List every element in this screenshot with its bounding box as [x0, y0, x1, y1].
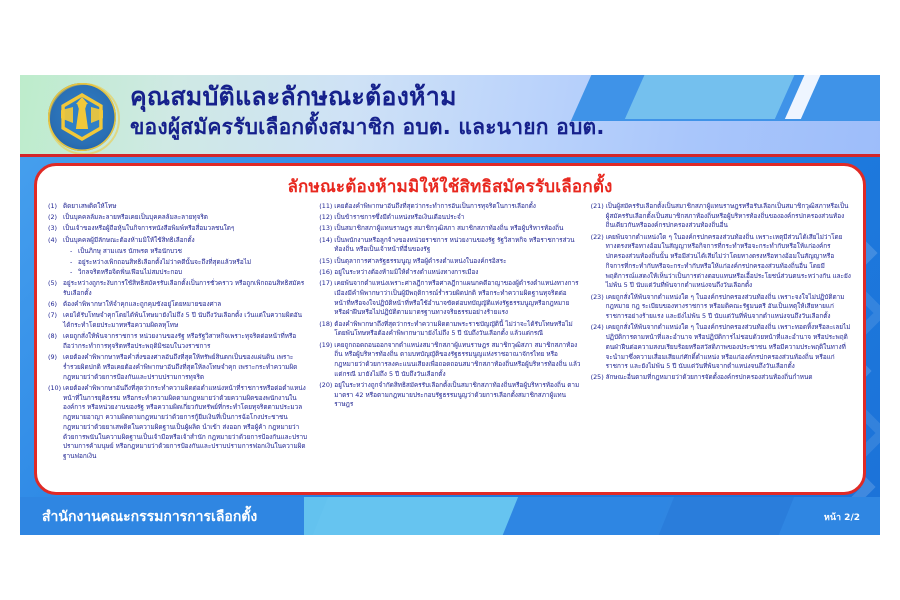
- list-sub-item-text: อยู่ระหว่างเพิกถอนสิทธิเลือกตั้งไม่ว่าคด…: [78, 258, 309, 268]
- list-item-number: (21): [591, 202, 606, 231]
- list-item: (5)อยู่ระหว่างถูกระงับการใช้สิทธิสมัครรั…: [48, 279, 309, 298]
- list-item-text: เป็นพนักงานหรือลูกจ้างของหน่วยราชการ หน่…: [334, 236, 580, 255]
- list-item-text: อยู่ในระหว่างถูกจำกัดสิทธิสมัครรับเลือกต…: [334, 381, 580, 410]
- list-item: (1)ติดยาเสพติดให้โทษ: [48, 202, 309, 212]
- list-item: (15)เป็นตุลาการศาลรัฐธรรมนูญ หรือผู้ดำรง…: [319, 257, 580, 267]
- list-item: (9)เคยต้องคำพิพากษาหรือคำสั่งของศาลอันถึ…: [48, 353, 309, 382]
- list-item-number: (20): [319, 381, 334, 410]
- section-heading: ลักษณะต้องห้ามมิให้ใช้สิทธิสมัครรับเลือก…: [37, 173, 863, 200]
- list-item-text: อยู่ในระหว่างต้องห้ามมิให้ดำรงตำแหน่งทาง…: [334, 268, 580, 278]
- footer-page-number: หน้า 2/2: [824, 510, 860, 524]
- list-item-text: ต้องคำพิพากษาให้จำคุกและถูกคุมขังอยู่โดย…: [63, 300, 309, 310]
- list-item-number: (24): [591, 323, 606, 372]
- list-sub-item: -วิกลจริตหรือจิตฟั่นเฟือนไม่สมประกอบ: [70, 268, 309, 278]
- list-item: (7)เคยได้รับโทษจำคุกโดยได้พ้นโทษมายังไม่…: [48, 311, 309, 330]
- list-item-number: (23): [591, 293, 606, 322]
- list-item-number: (5): [48, 279, 63, 298]
- list-item: (23)เคยถูกสั่งให้พ้นจากตำแหน่งใด ๆ ในองค…: [591, 293, 852, 322]
- list-item-text: เป็นเจ้าของหรือผู้ถือหุ้นในกิจการหนังสือ…: [63, 224, 309, 234]
- dash-bullet-icon: -: [70, 247, 78, 257]
- list-item: (17)เคยพ้นจากตำแหน่งเพราะศาลฎีกาหรือศาลฎ…: [319, 279, 580, 318]
- list-item-number: (2): [48, 213, 63, 223]
- list-item-number: (19): [319, 341, 334, 380]
- screenshot-root: คุณสมบัติและลักษณะต้องห้าม ของผู้สมัครรั…: [0, 0, 900, 600]
- footer-office-name: สำนักงานคณะกรรมการการเลือกตั้ง: [42, 506, 257, 528]
- list-item-number: (15): [319, 257, 334, 267]
- list-sub-item-text: เป็นภิกษุ สามเณร นักพรต หรือนักบวช: [78, 247, 309, 257]
- list-item: (2)เป็นบุคคลล้มละลายหรือเคยเป็นบุคคลล้มล…: [48, 213, 309, 223]
- list-item-text: เคยต้องคำพิพากษาอันถึงที่สุดว่ากระทำการอ…: [334, 202, 580, 212]
- list-item-number: (11): [319, 202, 334, 212]
- list-item-text: เคยพ้นจากตำแหน่งเพราะศาลฎีกาหรือศาลฎีกาแ…: [334, 279, 580, 318]
- list-item-text: เคยต้องคำพิพากษาหรือคำสั่งของศาลอันถึงที…: [63, 353, 309, 382]
- list-item: (13)เป็นสมาชิกสภาผู้แทนราษฎร สมาชิกวุฒิส…: [319, 224, 580, 234]
- list-item-text: เคยได้รับโทษจำคุกโดยได้พ้นโทษมายังไม่ถึง…: [63, 311, 309, 330]
- list-item: (21)เป็นผู้สมัครรับเลือกตั้งเป็นสมาชิกสภ…: [591, 202, 852, 231]
- list-item-text: เป็นตุลาการศาลรัฐธรรมนูญ หรือผู้ดำรงตำแห…: [334, 257, 580, 267]
- columns-container: (1)ติดยาเสพติดให้โทษ(2)เป็นบุคคลล้มละลาย…: [37, 202, 863, 494]
- list-item-number: (14): [319, 236, 334, 255]
- list-item-number: (6): [48, 300, 63, 310]
- column-1: (1)ติดยาเสพติดให้โทษ(2)เป็นบุคคลล้มละลาย…: [43, 202, 314, 494]
- column-3: (21)เป็นผู้สมัครรับเลือกตั้งเป็นสมาชิกสภ…: [586, 202, 857, 494]
- footer-band-blue-dark: [654, 497, 798, 535]
- page-title: คุณสมบัติและลักษณะต้องห้าม ของผู้สมัครรั…: [130, 84, 830, 138]
- list-item: (3)เป็นเจ้าของหรือผู้ถือหุ้นในกิจการหนัง…: [48, 224, 309, 234]
- list-item-number: (10): [48, 384, 63, 462]
- content-card: ลักษณะต้องห้ามมิให้ใช้สิทธิสมัครรับเลือก…: [34, 163, 866, 495]
- list-item: (19)เคยถูกถอดถอนออกจากตำแหน่งสมาชิกสภาผู…: [319, 341, 580, 380]
- list-item: (11)เคยต้องคำพิพากษาอันถึงที่สุดว่ากระทำ…: [319, 202, 580, 212]
- list-item-number: (16): [319, 268, 334, 278]
- footer-band-cyan: [308, 497, 522, 535]
- list-item: (20)อยู่ในระหว่างถูกจำกัดสิทธิสมัครรับเล…: [319, 381, 580, 410]
- list-item-text: เป็นบุคคลผู้มีลักษณะต้องห้ามมิให้ใช้สิทธ…: [63, 236, 309, 246]
- list-item: (4)เป็นบุคคลผู้มีลักษณะต้องห้ามมิให้ใช้ส…: [48, 236, 309, 246]
- list-item-text: ติดยาเสพติดให้โทษ: [63, 202, 309, 212]
- list-item: (22)เคยพ้นจากตำแหน่งใด ๆ ในองค์กรปกครองส…: [591, 233, 852, 291]
- list-item-number: (7): [48, 311, 63, 330]
- list-item-number: (8): [48, 332, 63, 351]
- list-item-text: ต้องคำพิพากษาถึงที่สุดว่ากระทำความผิดตาม…: [334, 320, 580, 339]
- election-commission-emblem-icon: [48, 83, 116, 151]
- list-item: (24)เคยถูกสั่งให้พ้นจากตำแหน่งใด ๆ ในองค…: [591, 323, 852, 372]
- list-item-number: (13): [319, 224, 334, 234]
- list-item: (16)อยู่ในระหว่างต้องห้ามมิให้ดำรงตำแหน่…: [319, 268, 580, 278]
- list-item-text: อยู่ระหว่างถูกระงับการใช้สิทธิสมัครรับเล…: [63, 279, 309, 298]
- list-sub-item-text: วิกลจริตหรือจิตฟั่นเฟือนไม่สมประกอบ: [78, 268, 309, 278]
- list-item-text: เคยถูกสั่งให้พ้นจากราชการ หน่วยงานของรัฐ…: [63, 332, 309, 351]
- list-sub-item: -อยู่ระหว่างเพิกถอนสิทธิเลือกตั้งไม่ว่าค…: [70, 258, 309, 268]
- list-item: (12)เป็นข้าราชการซึ่งมีตำแหน่งหรือเงินเด…: [319, 213, 580, 223]
- list-item-text: เคยต้องคำพิพากษาอันถึงที่สุดว่ากระทำความ…: [63, 384, 309, 462]
- footer-band-blue: [500, 497, 674, 535]
- poster-footer: สำนักงานคณะกรรมการการเลือกตั้ง หน้า 2/2: [20, 497, 880, 535]
- dash-bullet-icon: -: [70, 268, 78, 278]
- list-item-text: เคยถูกสั่งให้พ้นจากตำแหน่งใด ๆ ในองค์กรป…: [606, 293, 852, 322]
- list-item-number: (25): [591, 373, 606, 383]
- list-item-text: เป็นสมาชิกสภาผู้แทนราษฎร สมาชิกวุฒิสภา ส…: [334, 224, 580, 234]
- list-item: (18)ต้องคำพิพากษาถึงที่สุดว่ากระทำความผิ…: [319, 320, 580, 339]
- list-item: (10)เคยต้องคำพิพากษาอันถึงที่สุดว่ากระทำ…: [48, 384, 309, 462]
- list-item-number: (12): [319, 213, 334, 223]
- list-item: (6)ต้องคำพิพากษาให้จำคุกและถูกคุมขังอยู่…: [48, 300, 309, 310]
- list-item-number: (1): [48, 202, 63, 212]
- list-item-text: เป็นข้าราชการซึ่งมีตำแหน่งหรือเงินเดือนป…: [334, 213, 580, 223]
- title-line-2: ของผู้สมัครรับเลือกตั้งสมาชิก อบต. และนา…: [130, 116, 830, 138]
- list-item-text: เป็นบุคคลล้มละลายหรือเคยเป็นบุคคลล้มละลา…: [63, 213, 309, 223]
- header-red-rule: [20, 154, 880, 157]
- list-item-number: (17): [319, 279, 334, 318]
- list-item: (25)ลักษณะอื่นตามที่กฎหมายว่าด้วยการจัดต…: [591, 373, 852, 383]
- list-item-text: เคยถูกสั่งให้พ้นจากตำแหน่งใด ๆ ในองค์กรป…: [606, 323, 852, 372]
- column-2: (11)เคยต้องคำพิพากษาอันถึงที่สุดว่ากระทำ…: [314, 202, 585, 494]
- poster-header: คุณสมบัติและลักษณะต้องห้าม ของผู้สมัครรั…: [20, 75, 880, 157]
- list-item: (8)เคยถูกสั่งให้พ้นจากราชการ หน่วยงานของ…: [48, 332, 309, 351]
- list-item-text: ลักษณะอื่นตามที่กฎหมายว่าด้วยการจัดตั้งอ…: [606, 373, 852, 383]
- list-sub-item: -เป็นภิกษุ สามเณร นักพรต หรือนักบวช: [70, 247, 309, 257]
- list-item-text: เคยพ้นจากตำแหน่งใด ๆ ในองค์กรปกครองส่วนท…: [606, 233, 852, 291]
- infographic-poster: คุณสมบัติและลักษณะต้องห้าม ของผู้สมัครรั…: [20, 75, 880, 535]
- list-item-number: (9): [48, 353, 63, 382]
- list-item: (14)เป็นพนักงานหรือลูกจ้างของหน่วยราชการ…: [319, 236, 580, 255]
- list-item-number: (22): [591, 233, 606, 291]
- list-item-number: (4): [48, 236, 63, 246]
- dash-bullet-icon: -: [70, 258, 78, 268]
- list-item-number: (3): [48, 224, 63, 234]
- list-item-text: เป็นผู้สมัครรับเลือกตั้งเป็นสมาชิกสภาผู้…: [606, 202, 852, 231]
- title-line-1: คุณสมบัติและลักษณะต้องห้าม: [130, 84, 830, 111]
- list-item-text: เคยถูกถอดถอนออกจากตำแหน่งสมาชิกสภาผู้แทน…: [334, 341, 580, 380]
- list-item-number: (18): [319, 320, 334, 339]
